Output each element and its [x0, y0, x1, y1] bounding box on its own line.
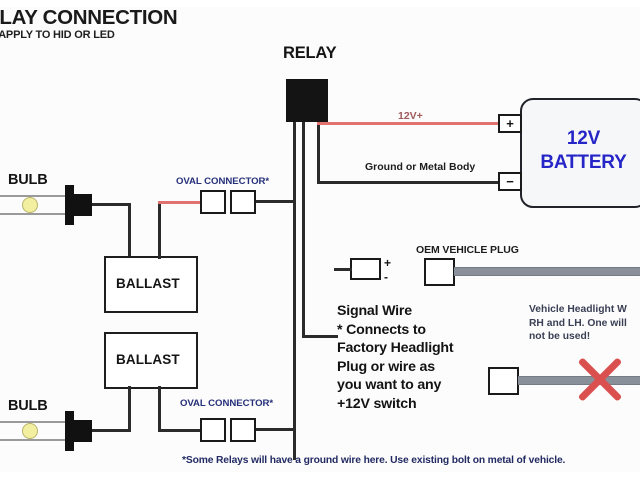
bulb-base-flange-bottom [65, 411, 74, 451]
oval-connector-box-b-bottom [230, 418, 256, 442]
ballast-label-top: BALLAST [116, 276, 180, 291]
battery-positive-terminal: + [498, 114, 522, 133]
signal-connector-riser [302, 268, 305, 338]
signal-minus-sign: - [384, 270, 388, 284]
oval-connector-label-top: OVAL CONNECTOR* [176, 176, 269, 187]
signal-plus-sign: + [384, 256, 391, 270]
oem-vehicle-plug-box [424, 258, 455, 286]
bulb-glow-icon [22, 197, 38, 213]
oem-vehicle-plug-label: OEM VEHICLE PLUG [416, 244, 519, 256]
diagram-subtitle: N APPLY TO HID OR LED [0, 29, 115, 41]
positive-wire [317, 122, 522, 125]
ballast-to-oval-wire-top [158, 201, 205, 204]
diagram-title: ELAY CONNECTION [0, 6, 177, 30]
bulb-base-body-bottom [74, 420, 92, 442]
ballast-to-oval-wire-bottom [158, 429, 205, 432]
unused-headlight-plug-box [488, 367, 519, 395]
bulb-glass-bottom [0, 418, 72, 444]
signal-connector-lead [334, 268, 352, 271]
battery-label: 12V BATTERY [531, 127, 636, 175]
bulb-line [0, 421, 72, 423]
signal-wire [302, 335, 338, 338]
relay-wire-left [293, 122, 296, 460]
oval-to-relay-wire-top [256, 200, 294, 203]
bulb-line [0, 439, 72, 441]
oval-connector-label-bottom: OVAL CONNECTOR* [180, 398, 273, 409]
ballast-to-oval-drop-bottom [158, 386, 161, 432]
bulb-base-body-top [74, 194, 92, 216]
ballast-to-oval-riser-top [158, 203, 161, 259]
bottom-white-band [0, 472, 640, 480]
ballast-label-bottom: BALLAST [116, 352, 180, 367]
signal-wire-instructions: Signal Wire * Connects to Factory Headli… [337, 302, 453, 414]
bulb-label-bottom: BULB [8, 398, 47, 414]
ground-wire [317, 181, 522, 184]
relay-body [286, 79, 328, 122]
ground-wire-label: Ground or Metal Body [365, 161, 475, 173]
oem-vehicle-plug-wire [454, 267, 640, 276]
bulb-label-top: BULB [8, 172, 47, 188]
footer-note: *Some Relays will have a ground wire her… [182, 455, 565, 466]
relay-label: RELAY [283, 44, 336, 63]
bulb-glow-icon [22, 423, 38, 439]
bulb-glass-top [0, 192, 72, 218]
red-x-icon [572, 358, 628, 402]
oval-connector-box-a-bottom [200, 418, 226, 442]
bulb-line [0, 195, 72, 197]
wiring-diagram: ELAY CONNECTION N APPLY TO HID OR LED RE… [0, 0, 640, 480]
unused-wire-warning: Vehicle Headlight W RH and LH. One will … [529, 303, 640, 344]
positive-wire-label: 12V+ [398, 110, 423, 122]
bulb-to-ballast-drop-top [128, 203, 131, 259]
signal-wire-connector [350, 258, 381, 280]
relay-wire-right [317, 122, 320, 184]
oval-connector-box-a-top [200, 190, 226, 214]
bulb-base-flange-top [65, 185, 74, 225]
bulb-to-ballast-wire-bottom [92, 429, 131, 432]
oval-connector-box-b-top [230, 190, 256, 214]
battery-negative-terminal: − [498, 172, 522, 191]
bulb-to-ballast-riser-bottom [128, 386, 131, 432]
bulb-to-ballast-wire-top [92, 203, 131, 206]
bulb-line [0, 213, 72, 215]
oval-to-relay-wire-bottom [256, 428, 296, 431]
